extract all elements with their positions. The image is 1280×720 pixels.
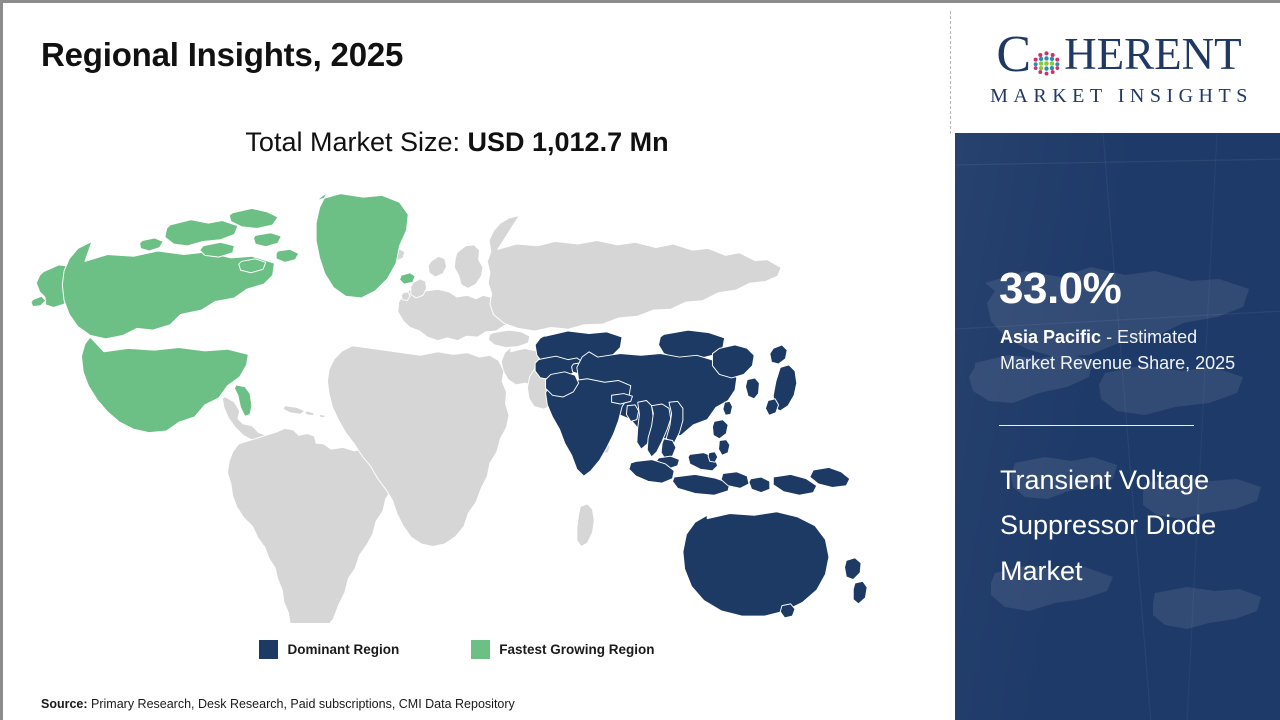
- highlight-panel: 33.0% Asia Pacific - Estimated Market Re…: [955, 133, 1280, 720]
- left-content-area: Regional Insights, 2025 Total Market Siz…: [3, 3, 950, 720]
- legend-item-dominant[interactable]: Dominant Region: [259, 640, 399, 659]
- source-note: Source: Primary Research, Desk Research,…: [41, 697, 515, 711]
- logo-wordmark: C: [996, 29, 1241, 81]
- legend-item-fastest-growing[interactable]: Fastest Growing Region: [471, 640, 654, 659]
- source-label: Source:: [41, 697, 88, 711]
- legend-label-fastest-growing: Fastest Growing Region: [499, 642, 654, 657]
- panel-divider: [999, 425, 1194, 426]
- right-panel: C: [955, 3, 1280, 720]
- dotted-globe-icon: [1031, 42, 1062, 73]
- infographic-page: Regional Insights, 2025 Total Market Siz…: [0, 0, 1280, 720]
- market-size-value: USD 1,012.7 Mn: [468, 127, 669, 157]
- logo-word-rest: HERENT: [1064, 32, 1241, 77]
- total-market-size: Total Market Size: USD 1,012.7 Mn: [3, 127, 911, 158]
- logo-letter-c: C: [996, 29, 1031, 81]
- vertical-separator: [950, 11, 951, 134]
- share-region: Asia Pacific: [1000, 327, 1101, 347]
- market-size-label: Total Market Size:: [245, 127, 467, 157]
- source-text: Primary Research, Desk Research, Paid su…: [88, 697, 515, 711]
- logo-tagline: MARKET INSIGHTS: [985, 85, 1253, 108]
- legend-label-dominant: Dominant Region: [287, 642, 399, 657]
- world-map-svg: [23, 178, 903, 623]
- page-title: Regional Insights, 2025: [41, 36, 403, 74]
- market-title: Transient Voltage Suppressor Diode Marke…: [1000, 458, 1250, 594]
- legend-swatch-fastest-growing: [471, 640, 490, 659]
- map-legend: Dominant Region Fastest Growing Region: [3, 640, 911, 659]
- share-description: Asia Pacific - Estimated Market Revenue …: [1000, 324, 1240, 377]
- legend-swatch-dominant: [259, 640, 278, 659]
- world-map[interactable]: [23, 178, 903, 623]
- brand-logo[interactable]: C: [955, 3, 1280, 133]
- map-region-dominant[interactable]: [535, 330, 867, 618]
- share-percent: 33.0%: [999, 267, 1121, 311]
